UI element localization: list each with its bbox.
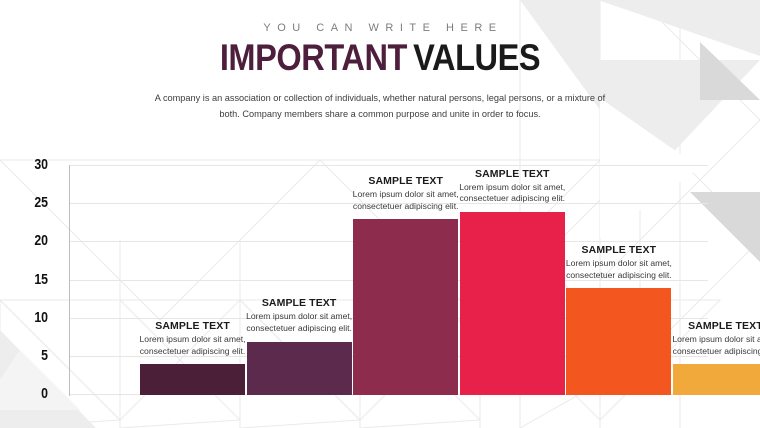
bar-annotation-body: Lorem ipsum dolor sit amet, consectetuer…: [667, 334, 760, 357]
y-axis-tick-label: 25: [15, 194, 48, 211]
bar-annotation-body: Lorem ipsum dolor sit amet, consectetuer…: [347, 189, 464, 212]
bar-column[interactable]: SAMPLE TEXTLorem ipsum dolor sit amet, c…: [247, 166, 352, 395]
bar[interactable]: [566, 288, 671, 395]
bar-column[interactable]: SAMPLE TEXTLorem ipsum dolor sit amet, c…: [460, 166, 565, 395]
bar-annotation-heading: SAMPLE TEXT: [667, 320, 760, 332]
y-axis-tick-label: 5: [15, 347, 48, 364]
slide-canvas: YOU CAN WRITE HERE IMPORTANTVALUES A com…: [0, 0, 760, 428]
bar-annotation: SAMPLE TEXTLorem ipsum dolor sit amet, c…: [134, 320, 251, 364]
bar-annotation-heading: SAMPLE TEXT: [241, 297, 358, 309]
bar-annotation: SAMPLE TEXTLorem ipsum dolor sit amet, c…: [667, 320, 760, 364]
y-axis-tick-label: 10: [15, 309, 48, 326]
bar-annotation-body: Lorem ipsum dolor sit amet, consectetuer…: [454, 182, 571, 205]
bar-annotation-body: Lorem ipsum dolor sit amet, consectetuer…: [560, 258, 677, 281]
y-axis-tick-label: 20: [15, 232, 48, 249]
bar-annotation-body: Lorem ipsum dolor sit amet, consectetuer…: [134, 334, 251, 357]
y-axis-tick-label: 30: [15, 156, 48, 173]
y-axis-tick-label: 0: [15, 385, 48, 402]
bar[interactable]: [353, 219, 458, 395]
bar-annotation-heading: SAMPLE TEXT: [454, 168, 571, 180]
y-axis-line: [69, 165, 70, 396]
bar-annotation-heading: SAMPLE TEXT: [134, 320, 251, 332]
bar-annotation: SAMPLE TEXTLorem ipsum dolor sit amet, c…: [241, 297, 358, 341]
bar-annotation-heading: SAMPLE TEXT: [560, 244, 677, 256]
bar-column[interactable]: SAMPLE TEXTLorem ipsum dolor sit amet, c…: [353, 166, 458, 395]
eyebrow-text: YOU CAN WRITE HERE: [0, 22, 760, 34]
bars-group: SAMPLE TEXTLorem ipsum dolor sit amet, c…: [140, 166, 760, 395]
title-accent-word: IMPORTANT: [220, 37, 407, 78]
slide-header: YOU CAN WRITE HERE IMPORTANTVALUES A com…: [0, 22, 760, 122]
bar-annotation: SAMPLE TEXTLorem ipsum dolor sit amet, c…: [347, 175, 464, 219]
bar-annotation: SAMPLE TEXTLorem ipsum dolor sit amet, c…: [560, 244, 677, 288]
bar-column[interactable]: SAMPLE TEXTLorem ipsum dolor sit amet, c…: [140, 166, 245, 395]
bar[interactable]: [673, 364, 760, 395]
y-axis-tick-label: 15: [15, 271, 48, 288]
bar[interactable]: [460, 212, 565, 395]
bar[interactable]: [140, 364, 245, 395]
bar-annotation-heading: SAMPLE TEXT: [347, 175, 464, 187]
bar[interactable]: [247, 342, 352, 395]
bar-column[interactable]: SAMPLE TEXTLorem ipsum dolor sit amet, c…: [566, 166, 671, 395]
bar-annotation-body: Lorem ipsum dolor sit amet, consectetuer…: [241, 311, 358, 334]
plot-area: SAMPLE TEXTLorem ipsum dolor sit amet, c…: [70, 166, 708, 395]
description-paragraph: A company is an association or collectio…: [145, 90, 615, 122]
bar-column[interactable]: SAMPLE TEXTLorem ipsum dolor sit amet, c…: [673, 166, 760, 395]
bar-annotation: SAMPLE TEXTLorem ipsum dolor sit amet, c…: [454, 168, 571, 212]
title-dark-word: VALUES: [413, 37, 540, 78]
page-title: IMPORTANTVALUES: [46, 38, 715, 78]
